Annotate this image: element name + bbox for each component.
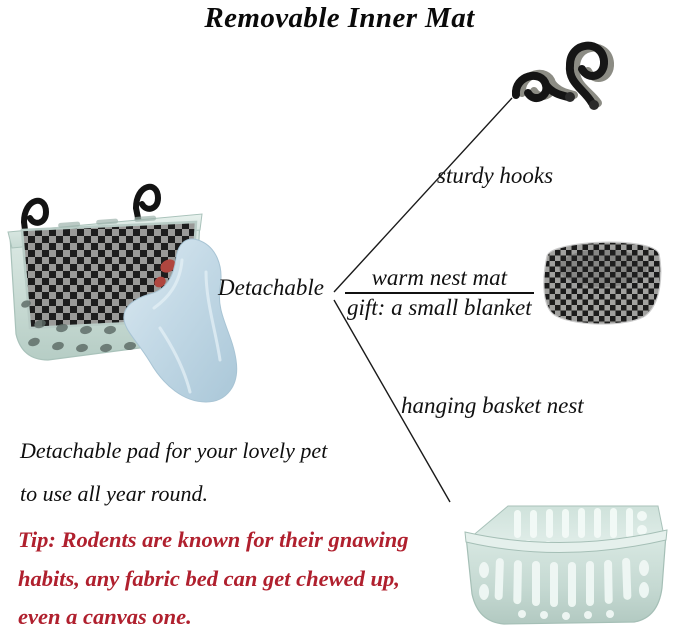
tip-text: Tip: Rodents are known for their gnawing… (18, 521, 466, 637)
fraction-divider (345, 292, 534, 294)
page-title: Removable Inner Mat (0, 2, 679, 35)
description-text: Detachable pad for your lovely pet to us… (20, 430, 420, 516)
hook-right-tip (589, 100, 599, 110)
callout-hanging-basket-nest: hanging basket nest (401, 393, 584, 419)
infographic-canvas: Removable Inner Mat (0, 0, 679, 638)
mat-inner-cavity (559, 249, 647, 287)
leader-line-to-hooks (334, 98, 512, 292)
hero-blue-blanket-and-hand (120, 236, 268, 404)
description-line-2: to use all year round. (20, 481, 208, 506)
hook-left-tip (565, 92, 575, 102)
tip-line-3: even a canvas one. (18, 598, 466, 637)
callout-detachable: Detachable (218, 275, 324, 301)
callout-mat-numerator: warm nest mat (345, 266, 534, 291)
callout-warm-nest-mat: warm nest mat gift: a small blanket (345, 266, 534, 321)
tip-line-1: Tip: Rodents are known for their gnawing (18, 521, 466, 560)
description-line-1: Detachable pad for your lovely pet (20, 438, 327, 463)
warm-nest-mat-image (533, 228, 669, 330)
sturdy-hooks-image (498, 33, 630, 125)
tip-line-2: habits, any fabric bed can get chewed up… (18, 560, 466, 599)
hanging-basket-nest-image (452, 492, 674, 632)
callout-mat-denominator: gift: a small blanket (345, 295, 534, 320)
callout-sturdy-hooks: sturdy hooks (437, 163, 553, 189)
